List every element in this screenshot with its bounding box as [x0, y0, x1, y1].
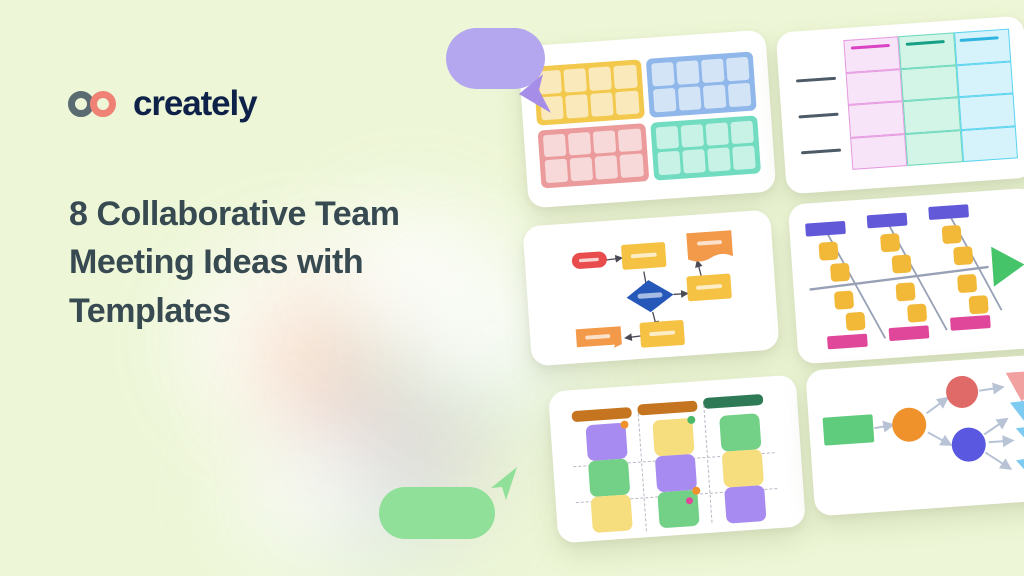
sticky-note[interactable]	[655, 454, 697, 493]
leaf-blue-2	[1016, 423, 1024, 456]
decision-tree-svg	[805, 354, 1024, 517]
template-card-kanban-board[interactable]	[548, 375, 806, 544]
sticky-note[interactable]	[722, 449, 764, 488]
leaf-blue-1	[1010, 398, 1024, 433]
kanban-note-grid	[571, 412, 780, 530]
node-orange	[891, 407, 927, 443]
note-badge-dot-secondary	[686, 497, 693, 504]
blue-quadrant	[645, 51, 756, 117]
branch-1-top-bar	[805, 221, 846, 237]
sticky-note[interactable]	[585, 423, 627, 462]
branch-1-bottom-bar	[827, 334, 868, 350]
node-blue	[951, 426, 987, 462]
leaf-blue-3	[1016, 454, 1024, 489]
root-rectangle	[823, 414, 875, 445]
column-3-header	[703, 394, 764, 409]
fishbone-svg	[788, 188, 1024, 365]
sticky-note[interactable]	[724, 485, 766, 524]
leaf-salmon	[1006, 370, 1024, 403]
table-row-labels	[796, 73, 844, 158]
note-badge-dot	[692, 486, 701, 495]
sticky-note[interactable]	[652, 418, 694, 457]
pink-column	[843, 36, 907, 170]
branch-3-top-bar	[928, 204, 969, 220]
document-2	[576, 326, 622, 350]
template-card-flowchart[interactable]	[522, 210, 779, 367]
decision	[626, 278, 675, 313]
sticky-note[interactable]	[657, 490, 699, 529]
start-terminator	[571, 251, 607, 269]
process-3	[639, 320, 685, 348]
template-card-decision-tree[interactable]	[805, 354, 1024, 517]
template-card-quadrant-matrix[interactable]	[518, 30, 777, 209]
pink-quadrant	[538, 123, 649, 189]
template-card-comparison-table[interactable]	[776, 16, 1024, 195]
sticky-note[interactable]	[719, 413, 761, 452]
template-card-fishbone-diagram[interactable]	[788, 188, 1024, 365]
branch-3-bottom-bar	[950, 315, 991, 331]
column-2-header	[637, 400, 698, 415]
branch-2-bottom-bar	[889, 325, 930, 341]
sticky-note[interactable]	[590, 494, 632, 533]
node-red	[945, 375, 979, 409]
mint-column	[899, 32, 963, 166]
purple-cursor-pointer	[517, 72, 555, 116]
fishbone-head-arrow	[991, 245, 1024, 287]
cyan-column	[954, 29, 1018, 163]
teal-quadrant	[650, 115, 761, 181]
process-1	[621, 242, 667, 270]
document-1	[686, 230, 733, 262]
quadrant-grid	[533, 51, 761, 188]
flowchart-svg	[522, 210, 779, 367]
note-badge-dot	[620, 420, 629, 429]
branch-2-top-bar	[867, 213, 908, 229]
table-grid	[843, 29, 1018, 170]
process-2	[686, 273, 732, 301]
note-badge-dot	[687, 416, 696, 425]
sticky-note[interactable]	[588, 458, 630, 497]
